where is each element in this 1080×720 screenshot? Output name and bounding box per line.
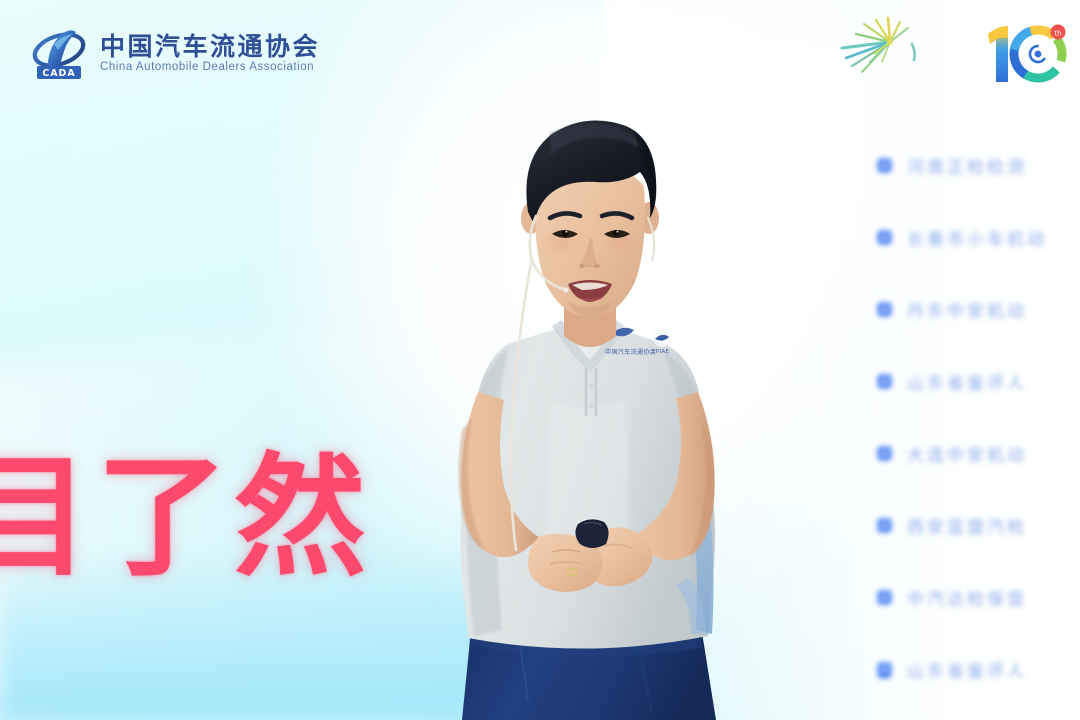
list-item: 河南正检检测 [870, 150, 1080, 180]
list-item: 大连中安机动 [870, 438, 1080, 468]
speaker-figure: 中国汽车流通协会 YPIAE [400, 100, 800, 720]
list-item: 山东省鉴评人 [870, 366, 1080, 396]
list-item: 中汽达检保营 [870, 582, 1080, 612]
list-item: 西安蓝盟汽检 [870, 510, 1080, 540]
mic-capsule [563, 287, 568, 292]
svg-text:th: th [1054, 30, 1061, 38]
blue-square-bullet-icon [878, 519, 891, 532]
presentation-clicker [575, 519, 608, 548]
slide-headline: 目了然 [0, 452, 372, 584]
list-item-label: 山东省鉴评人 [907, 369, 1027, 394]
list-item: 山东省鉴评人 [870, 654, 1080, 684]
list-item-label: 山东省鉴评人 [907, 657, 1027, 682]
list-item-label: 长春市小车机动 [907, 225, 1047, 250]
anniversary-10-icon: th [976, 18, 1068, 92]
slide-bullet-list: 河南正检检测 长春市小车机动 丹东中安机动 山东省鉴评人 大连中安机动 西安蓝盟… [870, 150, 1080, 720]
blue-square-bullet-icon [878, 303, 891, 316]
svg-text:CADA: CADA [42, 68, 75, 79]
cada-logo: CADA 中国汽车流通协会 China Automobile Dealers A… [28, 22, 320, 84]
list-item: 丹东中安机动 [870, 294, 1080, 324]
svg-text:YPIAE: YPIAE [651, 349, 669, 355]
blue-square-bullet-icon [878, 591, 891, 604]
svg-text:中国汽车流通协会: 中国汽车流通协会 [605, 348, 656, 356]
list-item-label: 大连中安机动 [907, 441, 1027, 466]
blue-square-bullet-icon [878, 159, 891, 172]
header-bar: CADA 中国汽车流通协会 China Automobile Dealers A… [0, 0, 1080, 106]
cada-name-en: China Automobile Dealers Association [100, 62, 320, 74]
cada-name-cn: 中国汽车流通协会 [100, 34, 320, 59]
conference-stage-screenshot: 目了然 河南正检检测 长春市小车机动 丹东中安机动 山东省鉴评人 大连中安机动 … [0, 0, 1080, 720]
firework-burst-icon [812, 14, 932, 86]
list-item-label: 丹东中安机动 [907, 297, 1027, 322]
blue-square-bullet-icon [878, 447, 891, 460]
list-item-label: 中汽达检保营 [907, 585, 1027, 610]
blue-square-bullet-icon [878, 375, 891, 388]
list-item-label: 西安蓝盟汽检 [907, 513, 1027, 538]
cada-swoosh-logo-icon: CADA [28, 22, 90, 84]
list-item-label: 河南正检检测 [907, 153, 1027, 178]
blue-square-bullet-icon [878, 663, 891, 676]
list-item: 长春市小车机动 [870, 222, 1080, 252]
blue-square-bullet-icon [878, 231, 891, 244]
